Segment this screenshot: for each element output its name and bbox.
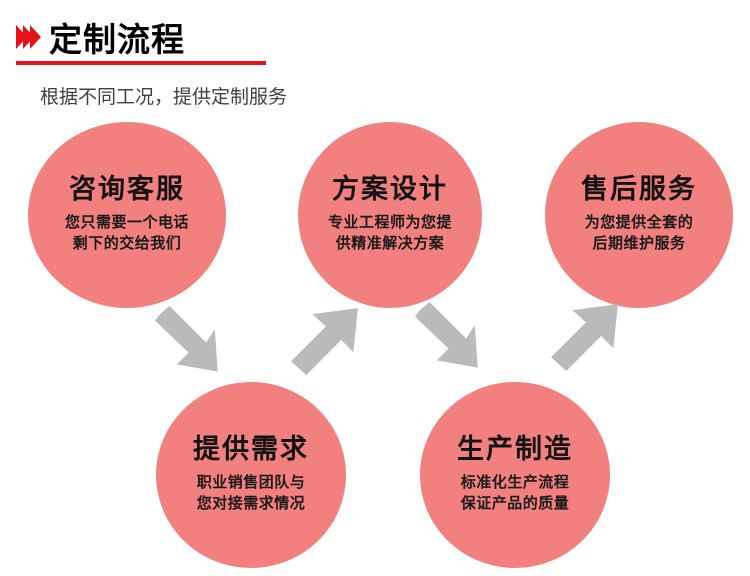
flow-node-desc-line-1: 您只需要一个电话 (65, 213, 189, 234)
double-chevron-right-icon (16, 25, 37, 49)
flow-node-desc-line-2: 后期维护服务 (592, 234, 685, 255)
flow-node-title: 生产制造 (457, 435, 573, 465)
header: 定制流程 根据不同工况，提供定制服务 (0, 0, 750, 115)
arrow-down-right-icon (412, 298, 488, 376)
flow-node-desc-line-2: 供精准解决方案 (336, 234, 445, 255)
flow-node-title: 咨询客服 (69, 175, 185, 205)
flow-node-consult: 咨询客服 您只需要一个电话 剩下的交给我们 (28, 122, 226, 308)
title-underline (16, 61, 266, 65)
flow-node-desc-line-2: 您对接需求情况 (197, 494, 306, 515)
flow-node-title: 方案设计 (332, 175, 448, 205)
page-title: 定制流程 (49, 13, 185, 61)
title-row: 定制流程 (16, 16, 185, 58)
arrow-up-right-icon (548, 296, 624, 376)
flow-node-requirements: 提供需求 职业销售团队与 您对接需求情况 (156, 382, 346, 568)
flow-node-manufacturing: 生产制造 标准化生产流程 保证产品的质量 (420, 382, 610, 568)
arrow-up-right-icon (288, 300, 364, 380)
flow-node-after-sales: 售后服务 为您提供全套的 后期维护服务 (545, 122, 733, 308)
flow-node-desc-line-1: 为您提供全套的 (585, 213, 694, 234)
customization-process-slide: 定制流程 根据不同工况，提供定制服务 咨询客服 您只需要一个电话 剩下的交给我们… (0, 0, 750, 576)
flow-node-title: 提供需求 (193, 435, 309, 465)
arrow-down-right-icon (152, 302, 228, 380)
page-subtitle: 根据不同工况，提供定制服务 (40, 82, 287, 109)
flow-node-desc-line-2: 剩下的交给我们 (73, 234, 182, 255)
flow-node-title: 售后服务 (581, 175, 697, 205)
flow-node-design: 方案设计 专业工程师为您提 供精准解决方案 (298, 122, 482, 308)
flow-node-desc-line-1: 专业工程师为您提 (328, 213, 452, 234)
flow-node-desc-line-1: 职业销售团队与 (197, 473, 306, 494)
flow-node-desc-line-1: 标准化生产流程 (461, 473, 570, 494)
flow-node-desc-line-2: 保证产品的质量 (461, 494, 570, 515)
chevron-right-icon-3 (30, 25, 41, 49)
